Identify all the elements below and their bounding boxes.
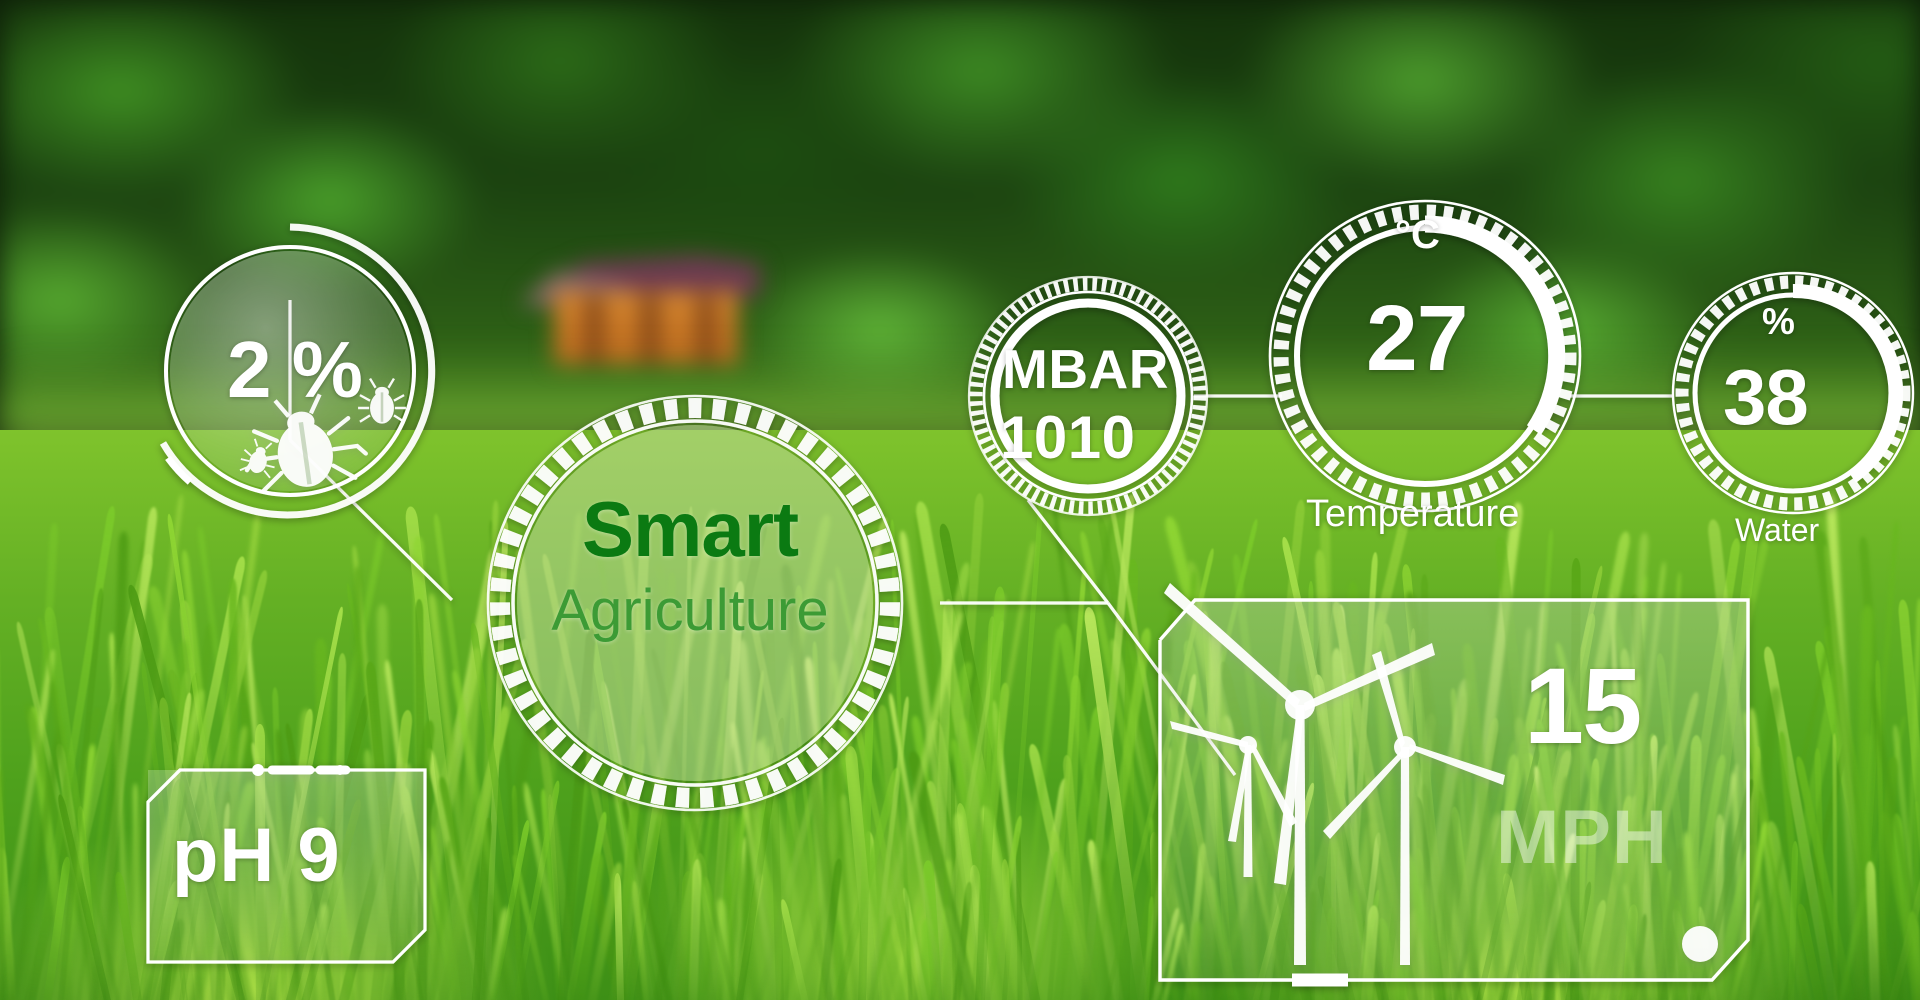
pest-value: 2 % (227, 330, 362, 410)
temperature-value: 27 (1366, 292, 1467, 385)
wind-value: 15 (1524, 652, 1640, 760)
pressure-value: 1010 (1000, 408, 1135, 468)
brand-block: Smart Agriculture (540, 490, 840, 640)
brand-line-2: Agriculture (540, 582, 840, 640)
wind-unit: MPH (1496, 800, 1668, 876)
water-unit: % (1762, 303, 1795, 340)
water-label: Water (1735, 514, 1819, 546)
temperature-unit: °C (1395, 215, 1440, 255)
water-value: 38 (1723, 358, 1808, 436)
brand-line-1: Smart (540, 490, 840, 568)
ph-value: pH 9 (172, 818, 341, 894)
temperature-label: Temperature (1306, 495, 1519, 533)
wind-panel-corner-dot (1682, 926, 1718, 962)
hud-layer: 2 % MBAR 1010 °C 27 Temperature % 38 Wat… (0, 0, 1920, 1000)
smart-agriculture-overlay: 2 % MBAR 1010 °C 27 Temperature % 38 Wat… (0, 0, 1920, 1000)
wind-speed-panel[interactable] (1160, 583, 1748, 980)
pressure-unit-label: MBAR (1002, 342, 1169, 397)
